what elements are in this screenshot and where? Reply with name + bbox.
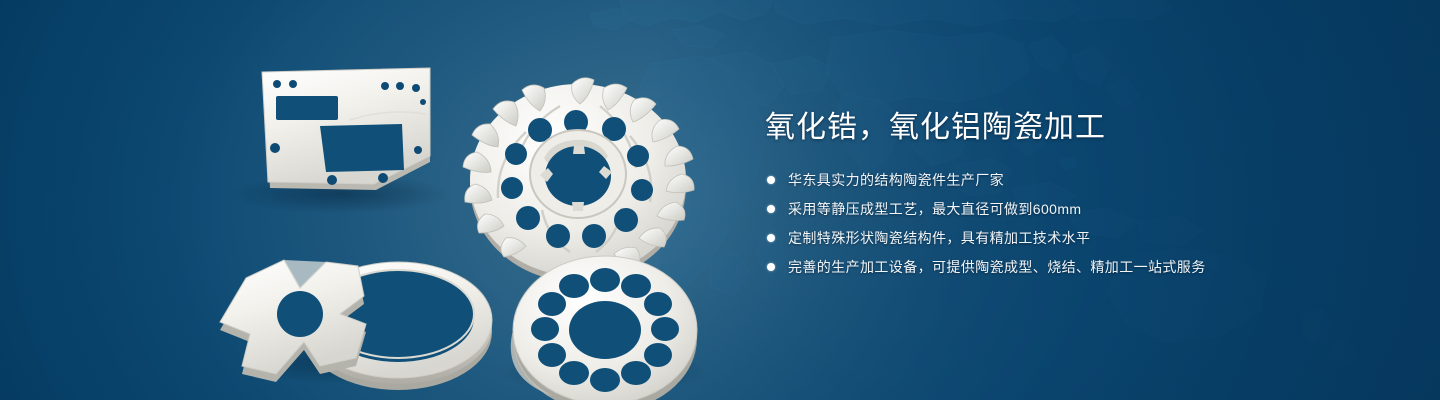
feature-text: 华东具实力的结构陶瓷件生产厂家	[788, 170, 1004, 190]
feature-text: 采用等静压成型工艺，最大直径可做到600mm	[788, 199, 1081, 219]
hero-banner: 氧化锆，氧化铝陶瓷加工 华东具实力的结构陶瓷件生产厂家 采用等静压成型工艺，最大…	[0, 0, 1440, 400]
ceramic-mounting-plate-shape	[262, 68, 430, 190]
list-item: 完善的生产加工设备，可提供陶瓷成型、烧结、精加工一站式服务	[767, 257, 1385, 277]
ceramic-impeller-rotor-shape	[463, 78, 694, 282]
list-item: 定制特殊形状陶瓷结构件，具有精加工技术水平	[767, 228, 1385, 248]
ceramic-perforated-disc-shape	[511, 256, 697, 400]
list-item: 采用等静压成型工艺，最大直径可做到600mm	[767, 199, 1385, 219]
ceramic-products-photo	[180, 22, 740, 400]
bullet-dot-icon	[767, 234, 775, 242]
bullet-dot-icon	[767, 263, 775, 271]
feature-text: 完善的生产加工设备，可提供陶瓷成型、烧结、精加工一站式服务	[788, 257, 1206, 277]
page-title: 氧化锆，氧化铝陶瓷加工	[765, 108, 1385, 148]
bullet-dot-icon	[767, 205, 775, 213]
list-item: 华东具实力的结构陶瓷件生产厂家	[767, 170, 1385, 190]
feature-list: 华东具实力的结构陶瓷件生产厂家 采用等静压成型工艺，最大直径可做到600mm 定…	[767, 170, 1385, 277]
feature-text: 定制特殊形状陶瓷结构件，具有精加工技术水平	[788, 228, 1090, 248]
bullet-dot-icon	[767, 176, 775, 184]
banner-copy: 氧化锆，氧化铝陶瓷加工 华东具实力的结构陶瓷件生产厂家 采用等静压成型工艺，最大…	[765, 108, 1385, 286]
ceramic-cross-and-rings-shape	[220, 260, 492, 390]
